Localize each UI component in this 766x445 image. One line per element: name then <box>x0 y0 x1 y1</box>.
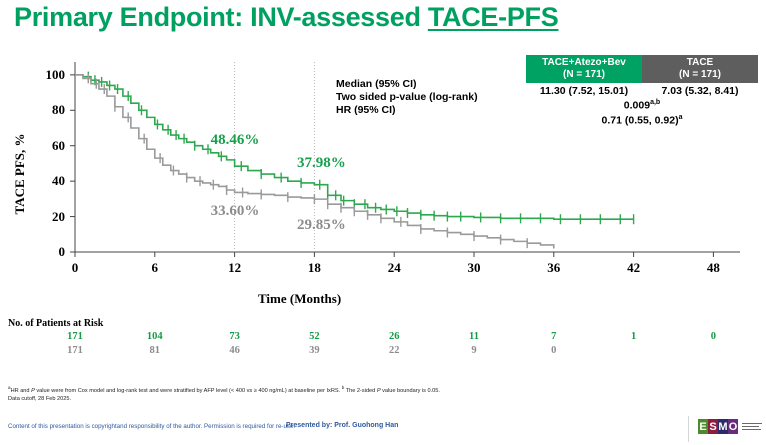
risk-cell-r0-c6: 7 <box>537 331 571 342</box>
risk-cell-r0-c2: 73 <box>218 331 252 342</box>
footnote-line-2: Data cutoff, 28 Feb 2025. <box>8 395 548 403</box>
risk-cell-r0-c1: 104 <box>138 331 172 342</box>
footnote-line-1: aHR and P value were from Cox model and … <box>8 384 548 395</box>
y-tick-100: 100 <box>31 67 65 83</box>
risk-cell-r0-c7: 1 <box>617 331 651 342</box>
esmo-logo-mark: E S M O <box>698 419 738 434</box>
annotation-48.46: 48.46% <box>211 132 260 149</box>
y-axis-title: TACE PFS, % <box>12 114 28 234</box>
footnote-text-b: value were from Cox model and log-rank t… <box>35 388 342 394</box>
page-title: Primary Endpoint: INV-assessed TACE-PFS <box>14 2 558 33</box>
risk-cell-r0-c3: 52 <box>297 331 331 342</box>
risk-cell-r1-c5: 9 <box>457 345 491 356</box>
annotation-33.60: 33.60% <box>211 203 260 220</box>
risk-cell-r1-c1: 81 <box>138 345 172 356</box>
y-tick-20: 20 <box>31 209 65 225</box>
footnote-text-d: value boundary is 0.05. <box>381 388 440 394</box>
x-tick-36: 36 <box>539 260 569 276</box>
title-main: Primary Endpoint: INV-assessed <box>14 2 428 32</box>
title-underlined: TACE-PFS <box>428 2 559 32</box>
x-axis-title: Time (Months) <box>258 291 341 307</box>
y-tick-60: 60 <box>31 138 65 154</box>
risk-cell-r1-c6: 0 <box>537 345 571 356</box>
x-tick-48: 48 <box>698 260 728 276</box>
logo-letter-s: S <box>708 419 718 434</box>
y-tick-40: 40 <box>31 173 65 189</box>
esmo-logo: E S M O <box>698 419 762 434</box>
x-tick-6: 6 <box>140 260 170 276</box>
copyright-text: Content of this presentation is copyrigh… <box>8 423 295 430</box>
x-tick-18: 18 <box>299 260 329 276</box>
risk-cell-r0-c5: 11 <box>457 331 491 342</box>
footnote-text-a: HR and <box>11 388 32 394</box>
x-tick-42: 42 <box>619 260 649 276</box>
y-tick-0: 0 <box>31 244 65 260</box>
annotation-29.85: 29.85% <box>297 217 346 234</box>
risk-table-title: No. of Patients at Risk <box>8 318 103 329</box>
presented-by-text: Presented by: Prof. Guohong Han <box>286 422 398 429</box>
footer-divider <box>688 416 689 442</box>
logo-letter-m: M <box>718 419 728 434</box>
km-chart: TACE PFS, % Time (Months) 020406080100 0… <box>0 46 766 316</box>
annotation-37.98: 37.98% <box>297 155 346 172</box>
slide: Primary Endpoint: INV-assessed TACE-PFS … <box>0 0 766 445</box>
risk-cell-r0-c4: 26 <box>377 331 411 342</box>
esmo-logo-tagline <box>742 423 762 430</box>
risk-cell-r1-c4: 22 <box>377 345 411 356</box>
risk-cell-r0-c8: 0 <box>696 331 730 342</box>
x-tick-24: 24 <box>379 260 409 276</box>
risk-cell-r1-c3: 39 <box>297 345 331 356</box>
logo-letter-e: E <box>698 419 708 434</box>
curve-TACE+Atezo+Bev <box>75 75 634 219</box>
footnotes: aHR and P value were from Cox model and … <box>8 384 548 403</box>
y-tick-80: 80 <box>31 102 65 118</box>
x-tick-30: 30 <box>459 260 489 276</box>
x-tick-0: 0 <box>60 260 90 276</box>
footnote-text-c: The 2-sided <box>344 388 377 394</box>
risk-cell-r1-c2: 46 <box>218 345 252 356</box>
x-tick-12: 12 <box>220 260 250 276</box>
risk-cell-r0-c0: 171 <box>58 331 92 342</box>
logo-letter-o: O <box>728 419 738 434</box>
km-plot-svg <box>0 46 766 296</box>
risk-cell-r1-c0: 171 <box>58 345 92 356</box>
